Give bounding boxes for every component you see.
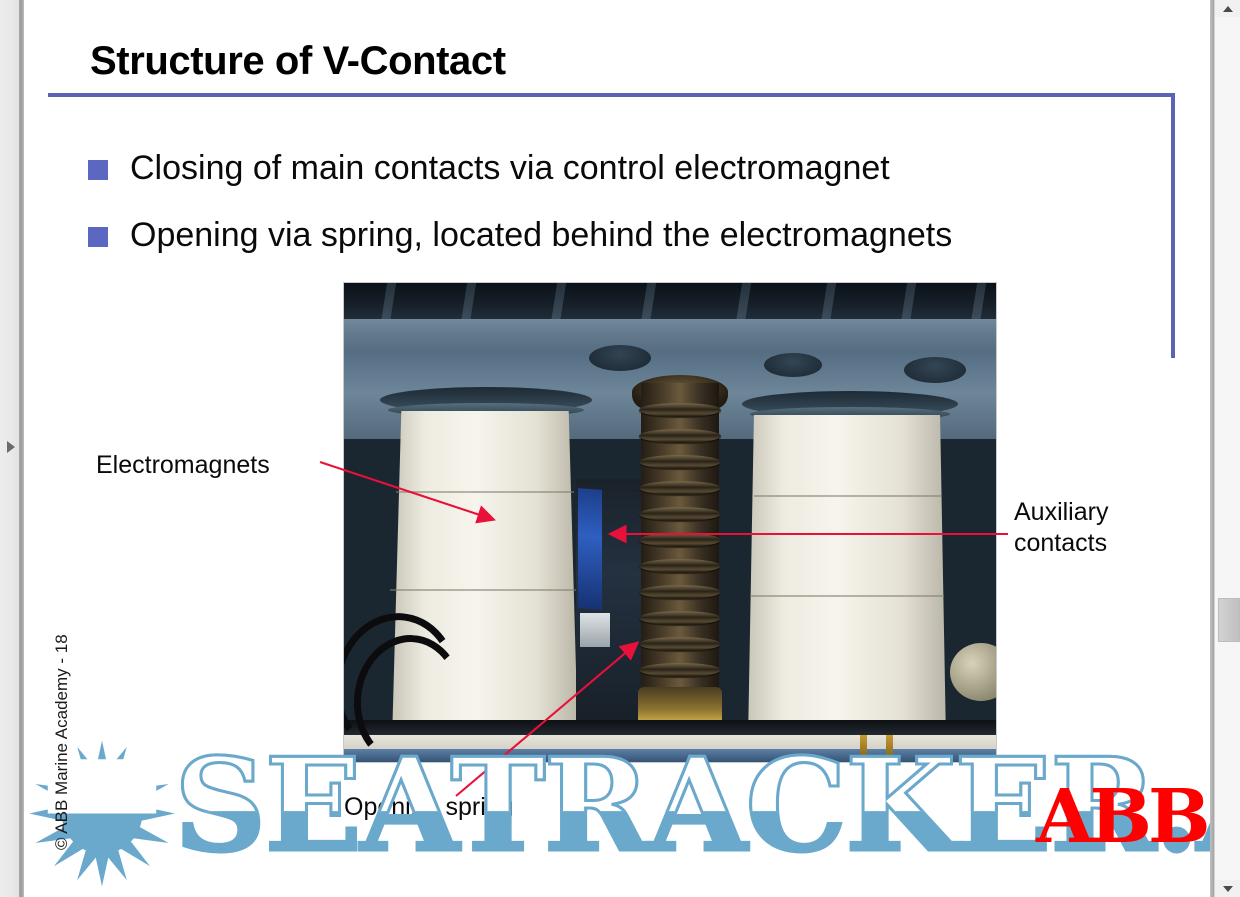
right-vertical-rule (1171, 93, 1175, 358)
label-auxiliary-line2: contacts (1014, 528, 1184, 559)
abb-logo: ABB (1036, 780, 1207, 854)
bullet-square-icon (88, 227, 108, 247)
photo-top-frame (344, 283, 996, 323)
label-auxiliary-line1: Auxiliary (1014, 497, 1184, 528)
chevron-down-icon[interactable] (1215, 880, 1240, 897)
page-title: Structure of V-Contact (90, 39, 506, 84)
list-item: Opening via spring, located behind the e… (88, 215, 952, 256)
footer-copyright: © ABB Marine Academy - 18 (52, 630, 72, 850)
title-underline-rule (48, 93, 1175, 97)
sun-burst-icon (24, 736, 192, 891)
scrollbar-track[interactable] (1215, 17, 1240, 880)
label-electromagnets: Electromagnets (96, 450, 270, 481)
v-contact-photograph (344, 283, 996, 762)
bullet-square-icon (88, 160, 108, 180)
label-opening-spring: Opening spring (344, 792, 514, 823)
document-viewer: Structure of V-Contact Closing of main c… (0, 0, 1240, 897)
label-auxiliary-contacts: Auxiliary contacts (1014, 497, 1184, 560)
vertical-scrollbar[interactable] (1214, 0, 1240, 897)
bullet-text: Closing of main contacts via control ele… (130, 148, 890, 189)
scroll-thumb[interactable] (1218, 598, 1240, 642)
slide-canvas: Structure of V-Contact Closing of main c… (24, 0, 1215, 897)
list-item: Closing of main contacts via control ele… (88, 148, 890, 189)
bullet-text: Opening via spring, located behind the e… (130, 215, 952, 256)
photo-content (344, 283, 996, 762)
expand-triangle-icon[interactable] (7, 441, 15, 453)
chevron-up-icon[interactable] (1215, 0, 1240, 17)
